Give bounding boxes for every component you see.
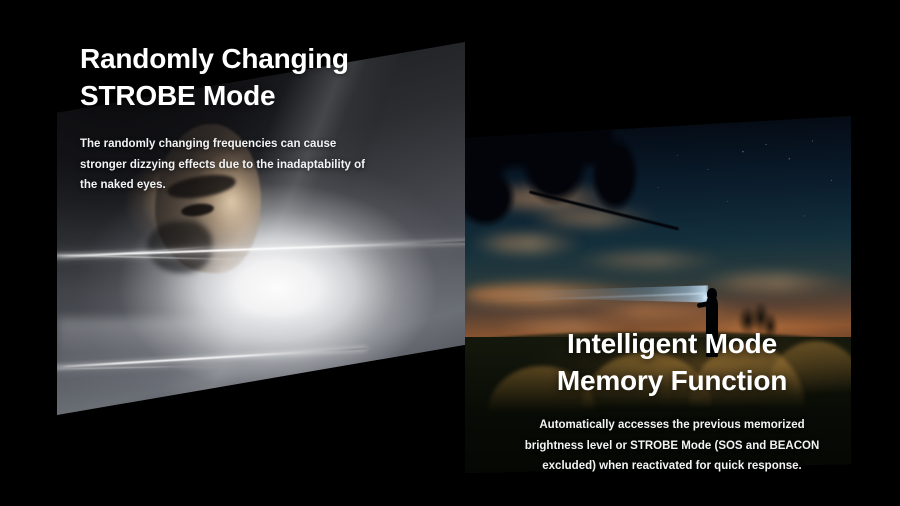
strobe-mode-body-line-1: The randomly changing frequencies can ca…	[80, 134, 372, 154]
memory-function-body-line-2: brightness level or STROBE Mode (SOS and…	[520, 436, 824, 456]
strobe-mode-heading: Randomly Changing STROBE Mode	[80, 40, 380, 114]
memory-function-body-line-1: Automatically accesses the previous memo…	[520, 415, 824, 435]
memory-function-text-block: Intelligent Mode Memory Function Automat…	[520, 325, 824, 477]
tree-silhouette	[465, 116, 658, 266]
slide-canvas: Randomly Changing STROBE Mode The random…	[0, 0, 900, 506]
memory-function-heading-line-1: Intelligent Mode	[520, 325, 824, 362]
lower-light-glow	[57, 318, 310, 393]
cloud-band	[697, 273, 851, 291]
strobe-mode-body-line-2: stronger dizzying effects due to the ina…	[80, 155, 372, 175]
memory-function-heading-line-2: Memory Function	[520, 362, 824, 399]
memory-function-body-line-3: excluded) when reactivated for quick res…	[520, 456, 824, 476]
cloud-band	[581, 302, 751, 320]
strobe-mode-text-block: Randomly Changing STROBE Mode The random…	[80, 40, 380, 196]
light-streak-line	[57, 240, 465, 257]
strobe-mode-heading-line-2: STROBE Mode	[80, 77, 380, 114]
strobe-mode-body: The randomly changing frequencies can ca…	[80, 134, 372, 195]
strobe-mode-heading-line-1: Randomly Changing	[80, 40, 380, 77]
strobe-mode-body-line-3: the naked eyes.	[80, 175, 372, 195]
person-head-silhouette	[707, 288, 718, 300]
memory-function-body: Automatically accesses the previous memo…	[520, 415, 824, 476]
memory-function-heading: Intelligent Mode Memory Function	[520, 325, 824, 399]
